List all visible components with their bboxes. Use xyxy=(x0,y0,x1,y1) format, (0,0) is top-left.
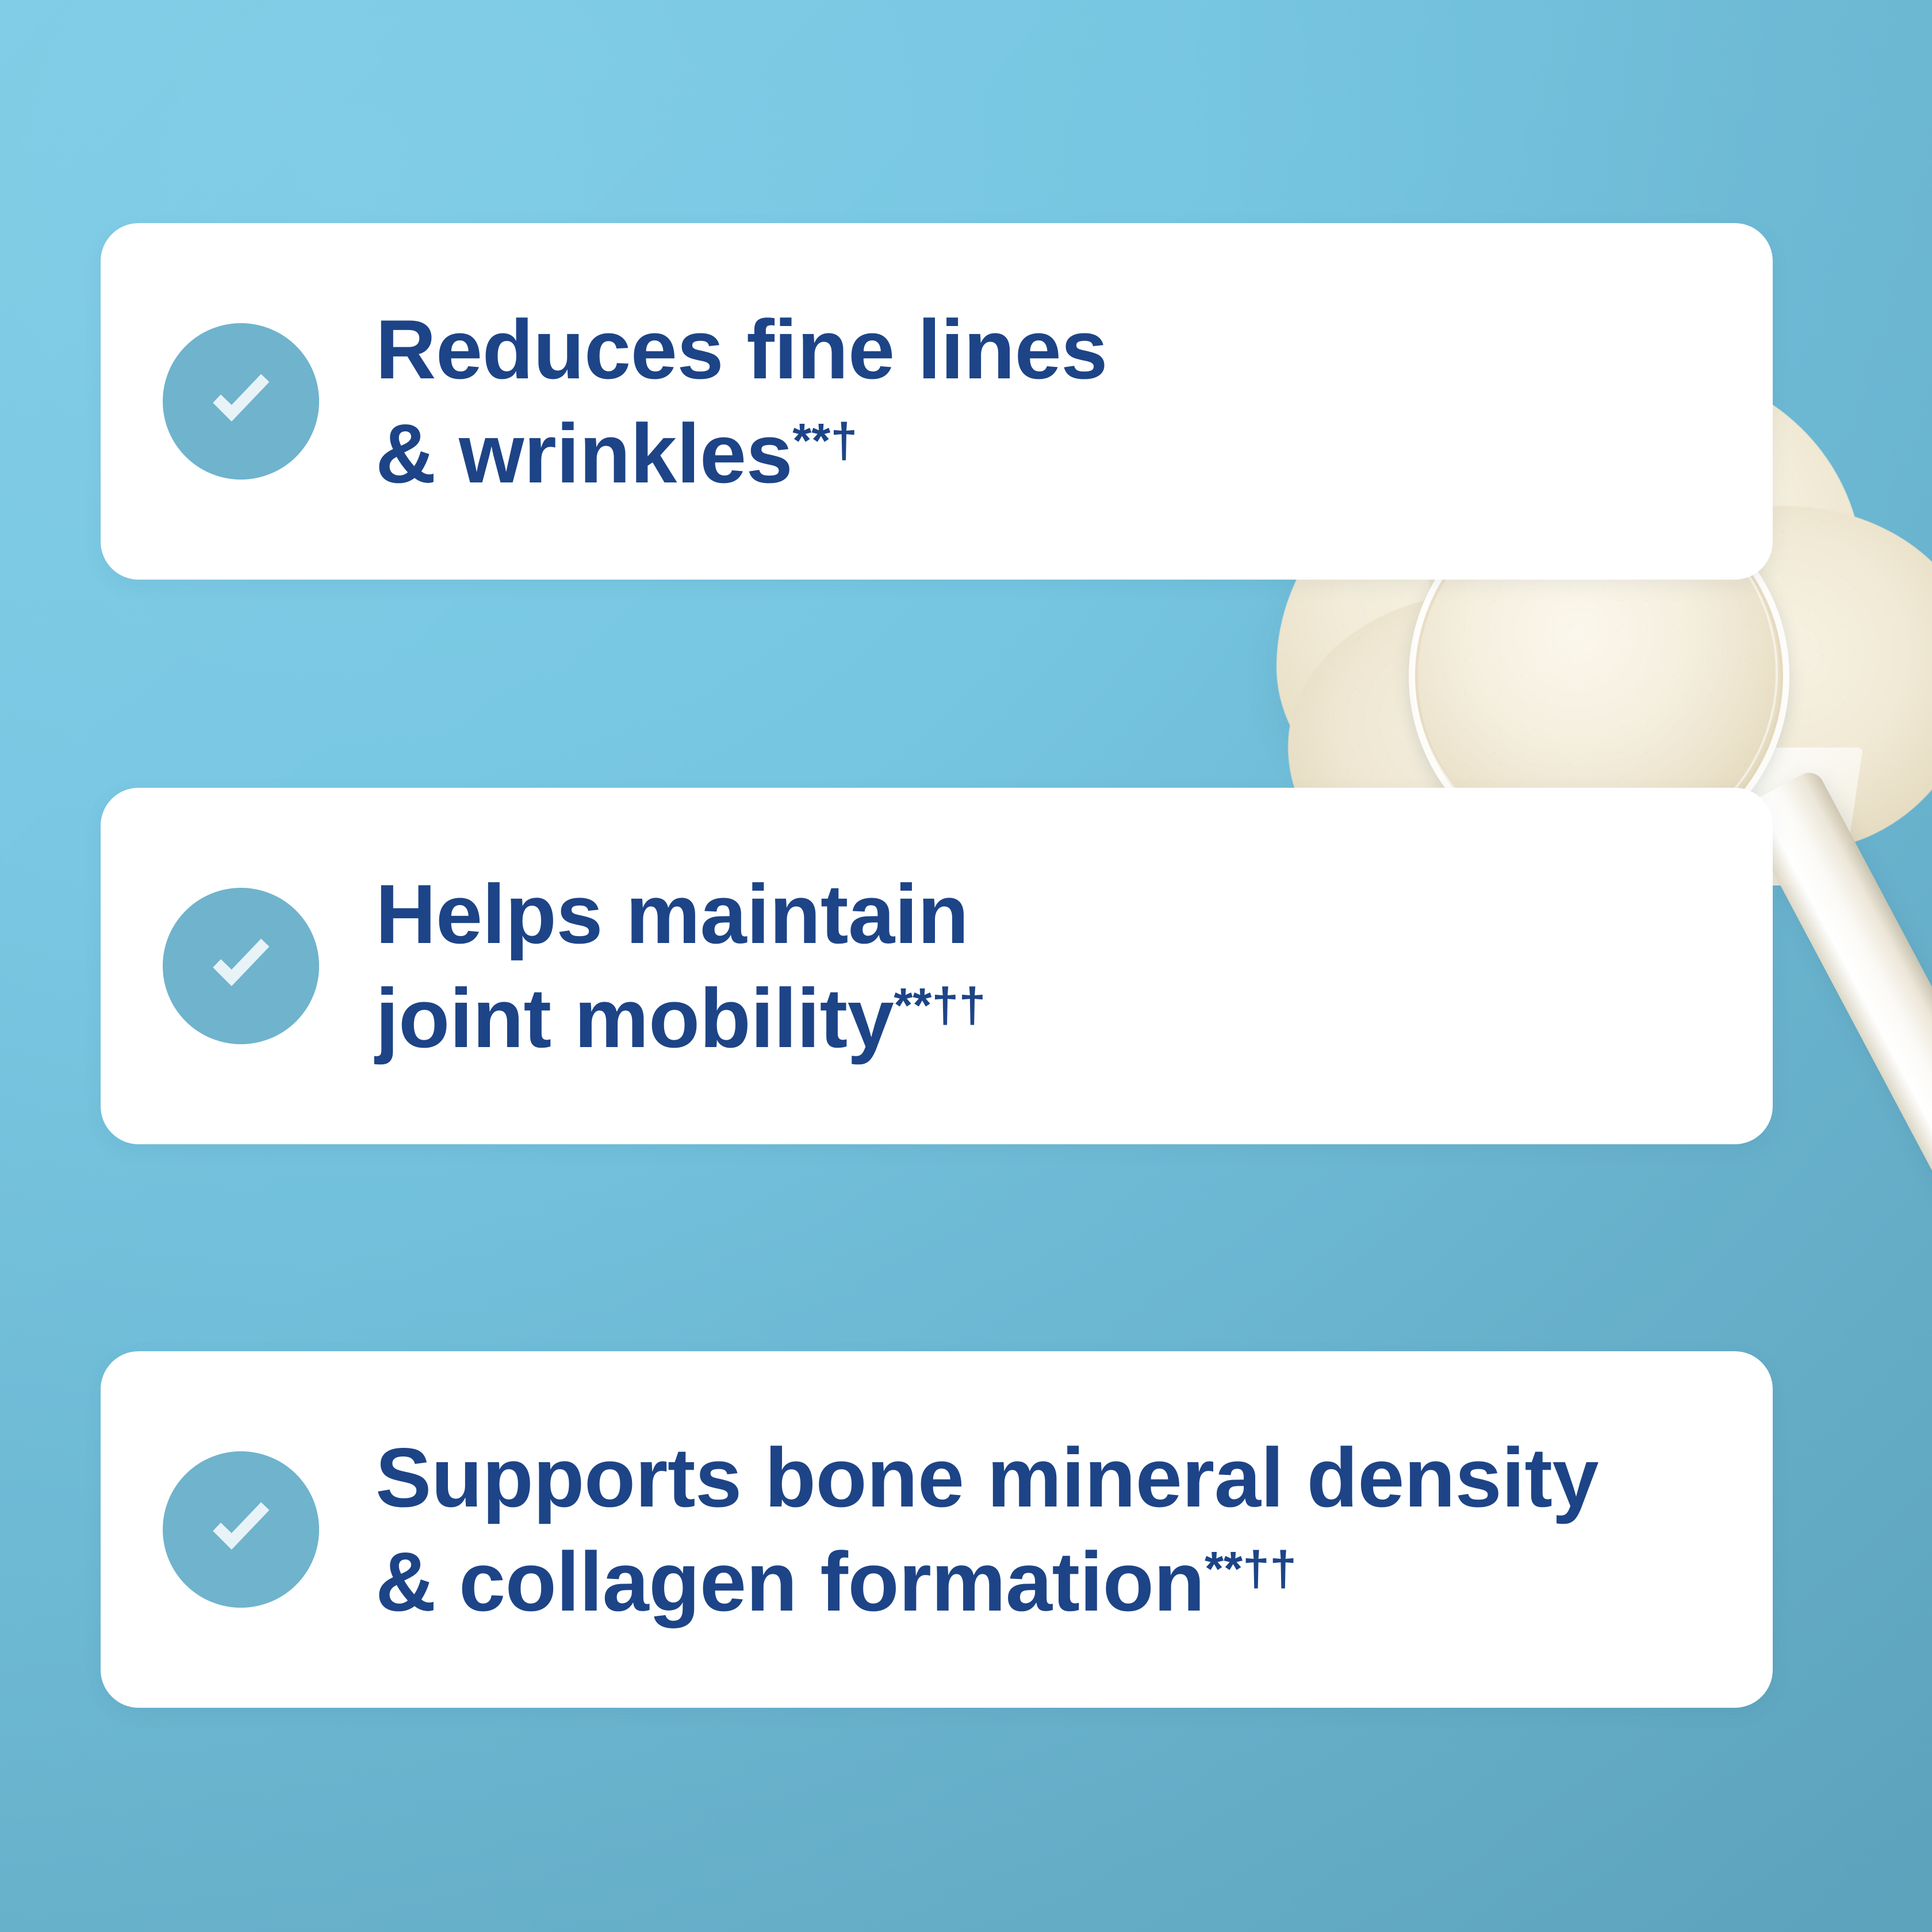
benefit-line-1: Reduces fine lines xyxy=(375,302,1107,396)
check-circle-icon xyxy=(163,888,319,1044)
benefit-text: Supports bone mineral density & collagen… xyxy=(375,1425,1598,1634)
benefit-line-2: & wrinkles xyxy=(375,407,792,500)
benefit-text: Helps maintain joint mobility**†† xyxy=(375,862,986,1070)
benefit-card-bone-mineral-density: Supports bone mineral density & collagen… xyxy=(101,1351,1773,1708)
benefit-footnote-marker: **† xyxy=(792,413,857,467)
check-circle-icon xyxy=(163,323,319,480)
benefit-line-2: joint mobility xyxy=(375,971,894,1065)
benefit-text: Reduces fine lines & wrinkles**† xyxy=(375,297,1107,505)
benefit-footnote-marker: **†† xyxy=(894,977,986,1032)
promo-graphic: Reduces fine lines & wrinkles**† Helps m… xyxy=(0,0,1932,1932)
benefit-card-joint-mobility: Helps maintain joint mobility**†† xyxy=(101,788,1773,1144)
benefit-footnote-marker: **†† xyxy=(1205,1541,1297,1596)
check-circle-icon xyxy=(163,1451,319,1608)
benefit-card-reduces-fine-lines: Reduces fine lines & wrinkles**† xyxy=(101,223,1773,580)
benefit-line-2: & collagen formation xyxy=(375,1535,1205,1628)
benefit-line-1: Supports bone mineral density xyxy=(375,1431,1598,1524)
benefit-line-1: Helps maintain xyxy=(375,867,968,961)
